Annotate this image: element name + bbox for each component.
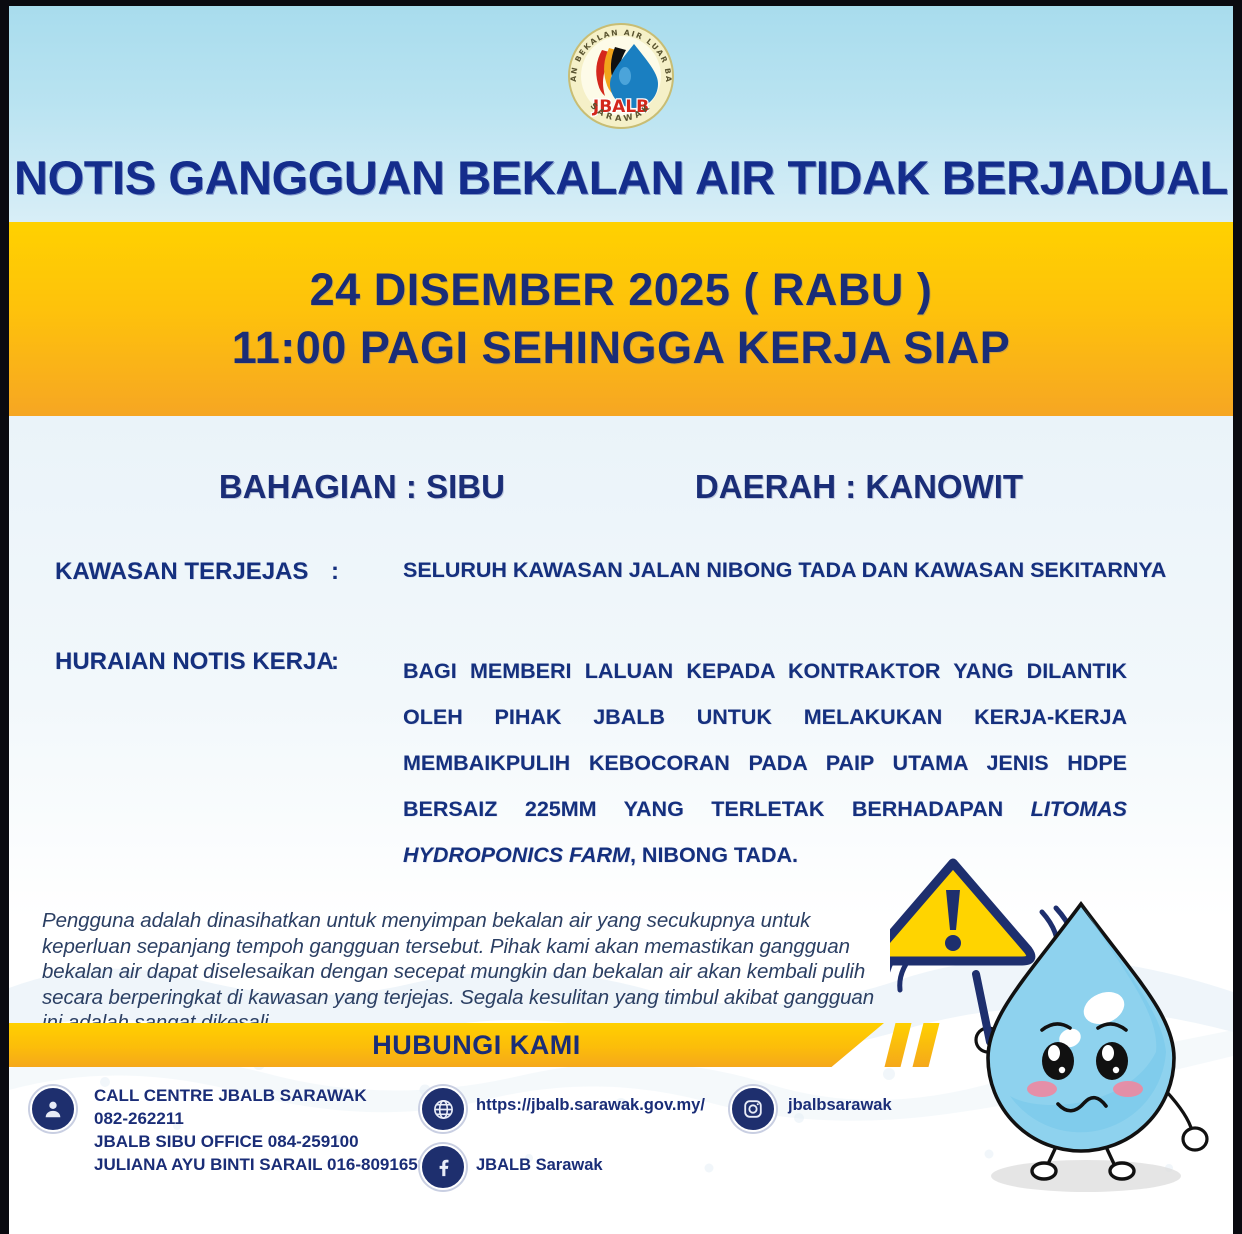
date-time-banner: 24 DISEMBER 2025 ( RABU ) 11:00 PAGI SEH… (9, 222, 1233, 416)
warning-triangle-sign (890, 863, 1031, 961)
poster-header: JBALB JABATAN BEKALAN AIR LUAR BANDAR SA… (9, 6, 1233, 222)
facebook-icon (420, 1144, 466, 1190)
field-huraian-notis-kerja: HURAIAN NOTIS KERJA : BAGI MEMBERI LALUA… (9, 648, 1233, 878)
contact-banner: HUBUNGI KAMI (9, 1023, 884, 1067)
call-centre-number[interactable]: 082-262211 (94, 1107, 184, 1130)
division-label: BAHAGIAN : SIBU (219, 468, 505, 506)
huraian-text-pre: BAGI MEMBERI LALUAN KEPADA KONTRAKTOR YA… (403, 659, 1127, 821)
instagram-handle[interactable]: jbalbsarawak (788, 1094, 892, 1117)
page-title: NOTIS GANGGUAN BEKALAN AIR TIDAK BERJADU… (9, 150, 1233, 205)
sibu-office-number[interactable]: JBALB SIBU OFFICE 084-259100 (94, 1130, 359, 1153)
instagram-icon (730, 1086, 776, 1132)
call-centre-name: CALL CENTRE JBALB SARAWAK (94, 1084, 367, 1107)
district-label: DAERAH : KANOWIT (695, 468, 1023, 506)
water-disruption-notice-poster: JBALB JABATAN BEKALAN AIR LUAR BANDAR SA… (0, 0, 1242, 1234)
huraian-notis-kerja-label: HURAIAN NOTIS KERJA (9, 648, 331, 878)
kawasan-terjejas-label: KAWASAN TERJEJAS (9, 558, 331, 586)
contact-banner-title: HUBUNGI KAMI (372, 1030, 581, 1061)
sad-water-droplet-mascot (890, 846, 1240, 1206)
huraian-text-post: , NIBONG TADA. (630, 843, 798, 867)
facebook-handle[interactable]: JBALB Sarawak (476, 1154, 603, 1177)
notice-date: 24 DISEMBER 2025 ( RABU ) (310, 264, 933, 316)
kawasan-terjejas-colon: : (331, 558, 403, 586)
huraian-notis-kerja-value: BAGI MEMBERI LALUAN KEPADA KONTRAKTOR YA… (403, 648, 1127, 878)
notice-time: 11:00 PAGI SEHINGGA KERJA SIAP (232, 322, 1011, 374)
region-row: BAHAGIAN : SIBU DAERAH : KANOWIT (9, 468, 1233, 506)
globe-icon (420, 1086, 466, 1132)
huraian-notis-kerja-colon: : (331, 648, 403, 878)
field-kawasan-terjejas: KAWASAN TERJEJAS : SELURUH KAWASAN JALAN… (9, 558, 1233, 586)
person-icon (30, 1086, 76, 1132)
kawasan-terjejas-value: SELURUH KAWASAN JALAN NIBONG TADA DAN KA… (403, 558, 1127, 586)
advisory-paragraph: Pengguna adalah dinasihatkan untuk menyi… (42, 908, 887, 1036)
jbalb-logo: JBALB JABATAN BEKALAN AIR LUAR BANDAR SA… (562, 20, 680, 132)
officer-contact-number[interactable]: JULIANA AYU BINTI SARAIL 016-8091659 (94, 1153, 427, 1176)
website-url[interactable]: https://jbalb.sarawak.gov.my/ (476, 1094, 705, 1117)
